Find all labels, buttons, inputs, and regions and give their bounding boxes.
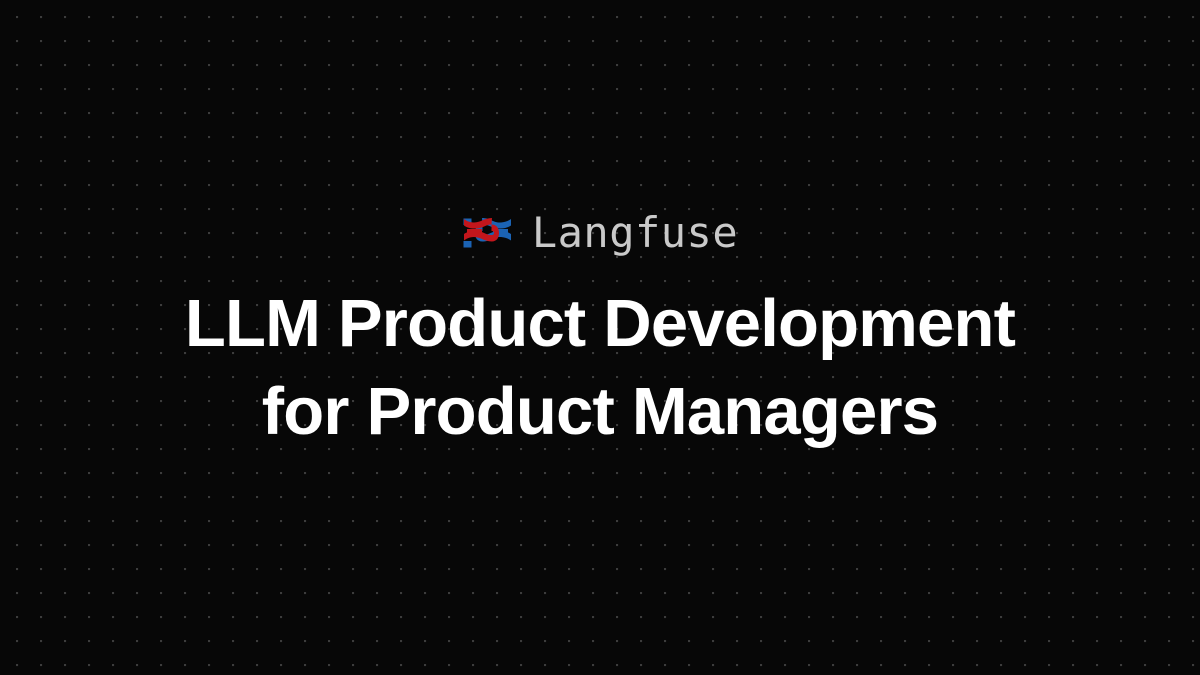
content-stack: Langfuse LLM Product Development for Pro… bbox=[0, 212, 1200, 456]
page-title: LLM Product Development for Product Mana… bbox=[185, 280, 1015, 456]
page-title-line-2: for Product Managers bbox=[185, 368, 1015, 456]
og-card: Langfuse LLM Product Development for Pro… bbox=[0, 0, 1200, 675]
brand-lockup: Langfuse bbox=[462, 212, 738, 254]
page-title-line-1: LLM Product Development bbox=[185, 280, 1015, 368]
brand-wordmark: Langfuse bbox=[532, 212, 738, 254]
langfuse-logo-mark-icon bbox=[462, 216, 512, 250]
